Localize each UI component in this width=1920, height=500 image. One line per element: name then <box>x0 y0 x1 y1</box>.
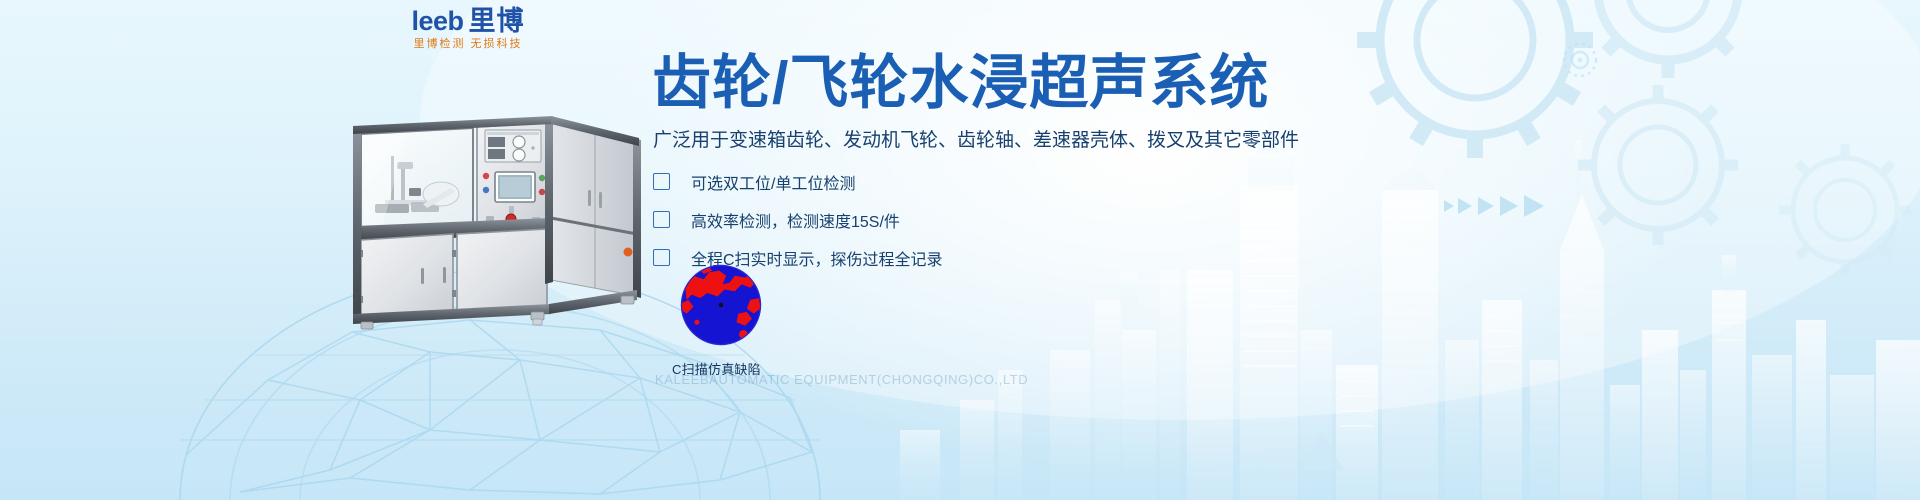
empty-checkbox-icon <box>653 173 670 190</box>
feature-label-2: 高效率检测，检测速度15S/件 <box>691 208 900 232</box>
target-circle-graphic <box>1564 44 1596 76</box>
logo-wordmark: leeb里博 <box>348 6 588 36</box>
chevron-arrows-graphic <box>1444 195 1544 217</box>
cscan-sample: C扫描仿真缺陷 <box>672 262 842 378</box>
feature-item-2: 高效率检测，检测速度15S/件 <box>653 203 943 236</box>
logo-latin-text: leeb <box>411 6 463 36</box>
gear-outline-graphic <box>1357 0 1911 276</box>
empty-checkbox-icon <box>653 249 670 266</box>
machine-product-photo <box>345 100 645 345</box>
logo-tagline: 里博检测 无损科技 <box>348 37 588 51</box>
page-subtitle: 广泛用于变速箱齿轮、发动机飞轮、齿轮轴、差速器壳体、拨叉及其它零部件 <box>653 128 1299 154</box>
feature-item-1: 可选双工位/单工位检测 <box>653 165 943 198</box>
cscan-defect-image <box>678 262 764 348</box>
promo-banner: leeb里博 里博检测 无损科技 <box>0 0 1920 500</box>
page-title: 齿轮/飞轮水浸超声系统 <box>652 50 1269 116</box>
triangle-accent-graphic <box>1248 432 1344 490</box>
city-skyline-graphic <box>900 128 1920 500</box>
company-watermark: KALEEBAUTOMATIC EQUIPMENT(CHONGQING)CO.,… <box>655 372 1028 387</box>
feature-label-1: 可选双工位/单工位检测 <box>691 170 855 194</box>
logo-chinese-text: 里博 <box>469 6 525 36</box>
empty-checkbox-icon <box>653 211 670 228</box>
company-logo[interactable]: leeb里博 里博检测 无损科技 <box>348 6 588 51</box>
